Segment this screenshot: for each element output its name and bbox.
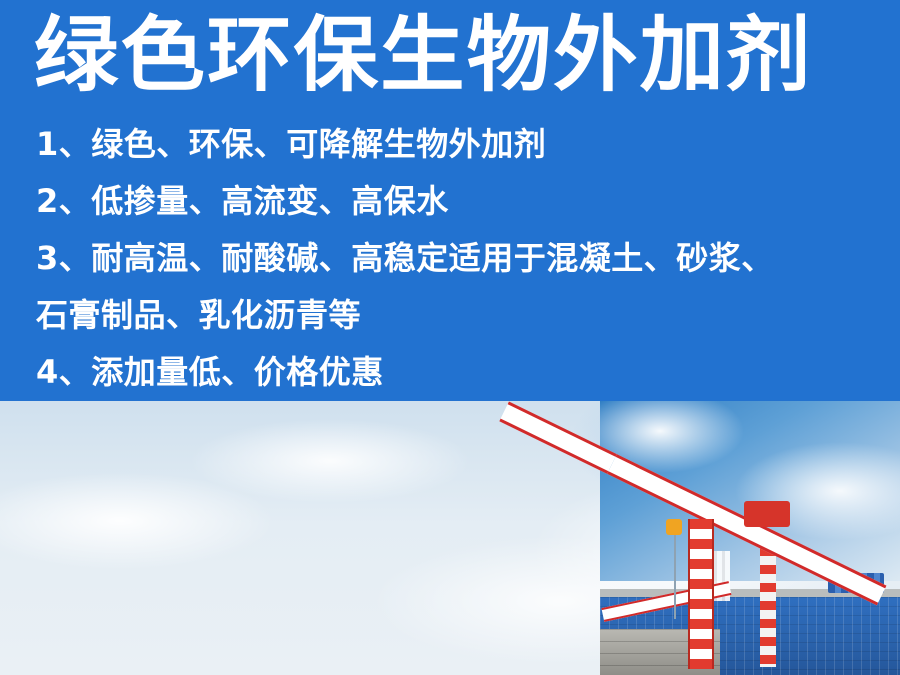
page-title: 绿色环保生物外加剂 <box>34 6 891 106</box>
list-item: 1、绿色、环保、可降解生物外加剂 <box>36 116 866 173</box>
feature-list: 1、绿色、环保、可降解生物外加剂 2、低掺量、高流变、高保水 3、耐高温、耐酸碱… <box>36 116 866 401</box>
crane-mast <box>688 519 714 669</box>
crane-hook-icon <box>666 519 682 535</box>
list-item: 4、添加量低、价格优惠 <box>36 344 866 401</box>
photo-band: 生物环保|一剂多效 样品包装 实验溶解效果 实验效果 <box>0 401 900 675</box>
product-poster: 绿色环保生物外加剂 1、绿色、环保、可降解生物外加剂 2、低掺量、高流变、高保水… <box>0 0 900 675</box>
list-item: 3、耐高温、耐酸碱、高稳定适用于混凝土、砂浆、 <box>36 230 866 287</box>
headline-panel: 绿色环保生物外加剂 1、绿色、环保、可降解生物外加剂 2、低掺量、高流变、高保水… <box>0 0 900 401</box>
list-item: 石膏制品、乳化沥青等 <box>36 287 866 344</box>
crane-cab <box>744 501 790 527</box>
crane-secondary-mast <box>760 547 776 667</box>
crane-hoist-line <box>674 523 676 619</box>
list-item: 2、低掺量、高流变、高保水 <box>36 173 866 230</box>
